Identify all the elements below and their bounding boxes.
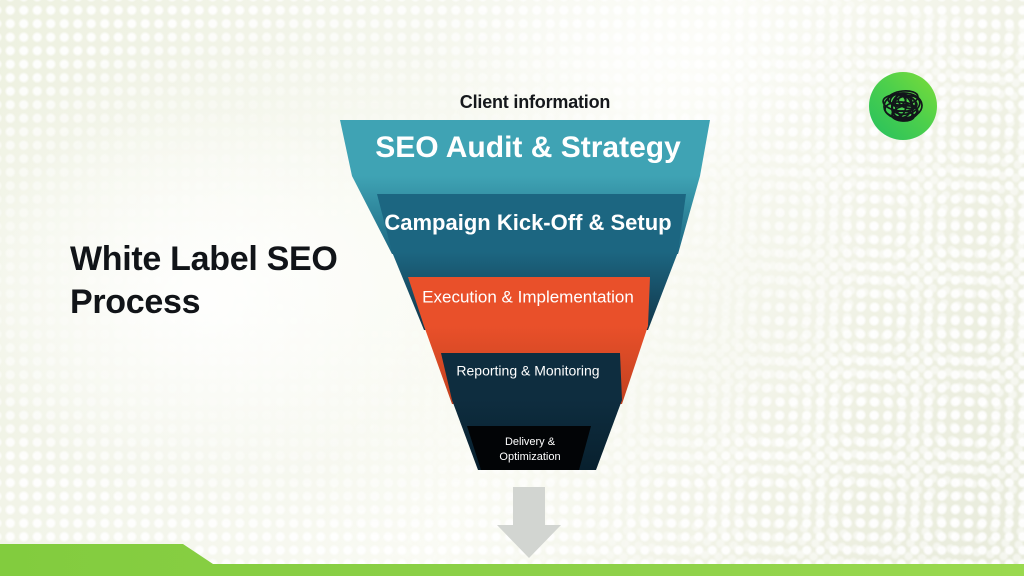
funnel-stage-3[interactable]: Execution & Implementation: [408, 277, 650, 326]
funnel-stage-3-label: Execution & Implementation: [422, 287, 634, 306]
funnel-stage-1-label: SEO Audit & Strategy: [375, 131, 681, 164]
slide-canvas: Client information White Label SEO Proce…: [0, 0, 1024, 576]
scribble-logo[interactable]: [869, 72, 937, 140]
funnel-stage-5[interactable]: Delivery & Optimization: [467, 426, 591, 470]
funnel-stage-2[interactable]: Campaign Kick-Off & Setup: [377, 194, 686, 252]
funnel-stage-5-label-line-1: Delivery &: [505, 436, 556, 448]
funnel-stage-5-label-line-2: Optimization: [499, 451, 560, 463]
funnel-stage-1[interactable]: SEO Audit & Strategy: [340, 120, 710, 176]
funnel-stage-2-label: Campaign Kick-Off & Setup: [384, 210, 671, 235]
funnel-stage-4[interactable]: Reporting & Monitoring: [441, 353, 622, 400]
funnel-stage-4-label: Reporting & Monitoring: [456, 363, 599, 379]
down-arrow-icon: [497, 487, 561, 558]
funnel-stage-5-shape: [467, 426, 591, 470]
